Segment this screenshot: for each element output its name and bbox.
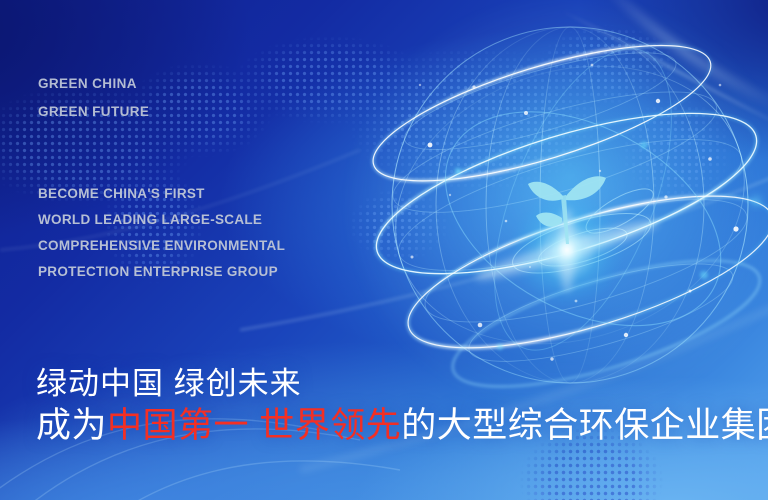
eco-banner: GREEN CHINA GREEN FUTURE BECOME CHINA'S …	[0, 0, 768, 500]
tagline-mid: BECOME CHINA'S FIRST WORLD LEADING LARGE…	[38, 181, 285, 285]
tagline-mid-line-2: WORLD LEADING LARGE-SCALE	[38, 207, 285, 233]
headline-line-2-prefix: 成为	[36, 406, 107, 445]
tagline-top: GREEN CHINA GREEN FUTURE	[38, 70, 149, 126]
tagline-mid-line-1: BECOME CHINA'S FIRST	[38, 181, 285, 207]
headline-line-2: 成为中国第一 世界领先的大型综合环保企业集团	[36, 404, 768, 448]
tagline-top-line-1: GREEN CHINA	[38, 70, 149, 98]
tagline-mid-line-4: PROTECTION ENTERPRISE GROUP	[38, 259, 285, 285]
headline: 绿动中国 绿创未来 成为中国第一 世界领先的大型综合环保企业集团	[36, 364, 768, 448]
tagline-top-line-2: GREEN FUTURE	[38, 98, 149, 126]
headline-line-2-suffix: 的大型综合环保企业集团	[401, 406, 768, 445]
headline-line-2-accent: 中国第一 世界领先	[107, 406, 401, 445]
tagline-mid-line-3: COMPREHENSIVE ENVIRONMENTAL	[38, 233, 285, 259]
headline-line-1: 绿动中国 绿创未来	[36, 364, 768, 404]
